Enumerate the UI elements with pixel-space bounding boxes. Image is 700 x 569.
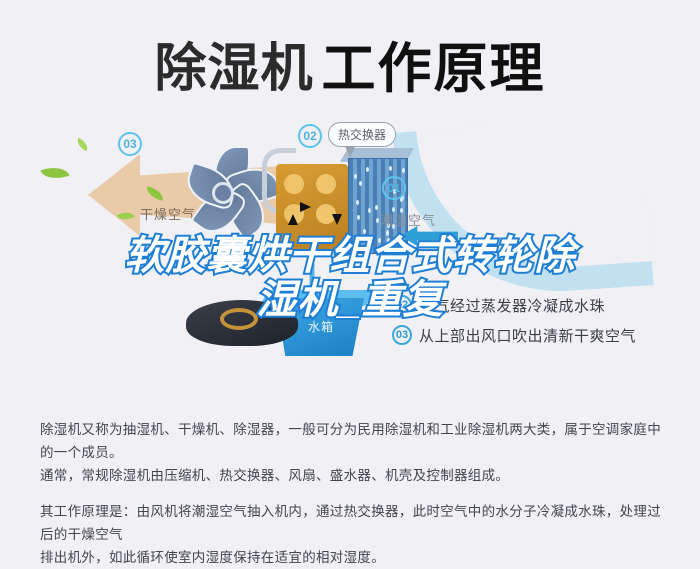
condensation-droplet (399, 241, 402, 246)
step-caption-list: 02 空气经过蒸发器冷凝成水珠 03 从上部出风口吹出清新干爽空气 (392, 290, 692, 350)
fan-icon (168, 140, 276, 244)
condensation-droplet (387, 238, 390, 243)
step-caption-row: 03 从上部出风口吹出清新干爽空气 (392, 320, 692, 350)
flow-arrow-right-icon (300, 202, 311, 212)
article-body: 除湿机又称为抽湿机、干燥机、除湿器，一般可分为民用除湿机和工业除湿机两大类，属于… (40, 418, 670, 569)
condensation-droplet (375, 205, 378, 210)
coil-pipe (284, 174, 304, 194)
title-part-1: 除湿机 (154, 40, 313, 98)
condensation-droplet (389, 166, 392, 171)
step-marker-03: 03 (118, 132, 142, 156)
condensation-droplet (386, 231, 389, 236)
paragraph-2: 通常，常规除湿机由压缩机、热交换器、风扇、盛水器、机壳及控制器组成。 (40, 464, 670, 487)
condensation-droplet (359, 181, 362, 186)
leaf-icon (40, 162, 69, 183)
step-text: 空气经过蒸发器冷凝成水珠 (419, 295, 605, 316)
step-marker-02: 02 (298, 124, 322, 148)
step-caption-row: 02 空气经过蒸发器冷凝成水珠 (392, 290, 692, 320)
humid-airflow-arc (392, 115, 653, 302)
condensation-droplet (356, 200, 359, 205)
humid-air-label: 潮湿空气 (380, 210, 436, 229)
fan-hub (212, 182, 234, 204)
condensation-droplet (366, 167, 369, 172)
step-marker-01: 01 (382, 176, 406, 200)
condensation-droplet (363, 229, 366, 234)
title-part-2: 工作原理 (322, 39, 546, 99)
paragraph-gap (40, 487, 670, 500)
condensation-droplet (368, 208, 371, 213)
step-number: 02 (392, 295, 412, 315)
paragraph-3: 其工作原理是：由风机将潮湿空气抽入机内，通过热交换器，此时空气中的水分子冷凝成水… (40, 500, 670, 546)
condensation-droplet (357, 215, 360, 220)
compressor-base (186, 300, 298, 346)
condensation-droplet (376, 218, 379, 223)
page-title: 除湿机工作原理 (0, 24, 700, 103)
condensation-droplet (402, 168, 405, 173)
flow-arrow-up-icon (288, 214, 298, 225)
compressor-ring (220, 308, 258, 330)
leaf-icon (75, 138, 91, 152)
flow-arrow-down-icon (332, 214, 342, 225)
step-number: 03 (392, 325, 412, 345)
heat-exchanger-fins (348, 158, 408, 254)
working-principle-diagram: 干燥空气 水箱 01 02 03 热交换器 潮湿空气 (0, 118, 700, 410)
condensation-droplet (378, 238, 381, 243)
condensation-droplet (388, 248, 391, 253)
water-tank-label: 水箱 (308, 318, 334, 335)
condensation-droplet (354, 174, 357, 179)
heat-exchanger-callout: 热交换器 (328, 122, 396, 147)
paragraph-1: 除湿机又称为抽湿机、干燥机、除湿器，一般可分为民用除湿机和工业除湿机两大类，属于… (40, 418, 670, 464)
step-text: 从上部出风口吹出清新干爽空气 (419, 325, 636, 346)
compressor-coil-block (276, 164, 348, 250)
condensation-droplet (392, 246, 395, 251)
coil-pipe (316, 174, 336, 194)
